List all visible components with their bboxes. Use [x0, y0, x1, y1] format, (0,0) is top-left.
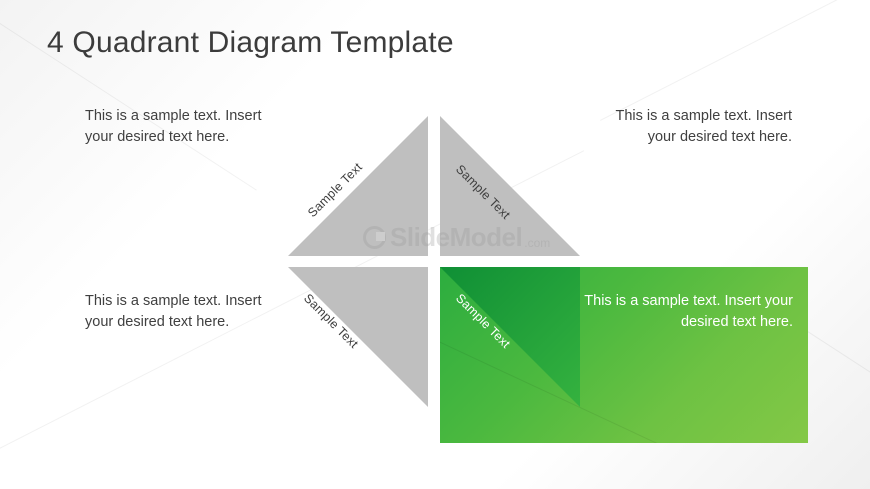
triangle-shape-icon: [288, 116, 428, 256]
quadrant-top-left-triangle[interactable]: Sample Text: [288, 116, 428, 256]
quadrant-top-right-triangle[interactable]: Sample Text: [440, 116, 580, 256]
triangle-shape-icon: [440, 116, 580, 256]
quadrant-bottom-right-triangle[interactable]: Sample Text: [440, 267, 580, 407]
slide-canvas: 4 Quadrant Diagram Template Sample Text …: [0, 0, 870, 489]
triangle-shape-icon: [440, 267, 580, 407]
quadrant-bottom-left-description: This is a sample text. Insert your desir…: [85, 291, 290, 333]
quadrant-bottom-left-triangle[interactable]: Sample Text: [288, 267, 428, 407]
triangle-shape-icon: [288, 267, 428, 407]
quadrant-diagram: Sample Text Sample Text Sample Text: [0, 0, 870, 489]
quadrant-top-left-description: This is a sample text. Insert your desir…: [85, 106, 290, 148]
quadrant-top-right-description: This is a sample text. Insert your desir…: [592, 106, 792, 148]
quadrant-bottom-right-description: This is a sample text. Insert your desir…: [578, 291, 793, 333]
